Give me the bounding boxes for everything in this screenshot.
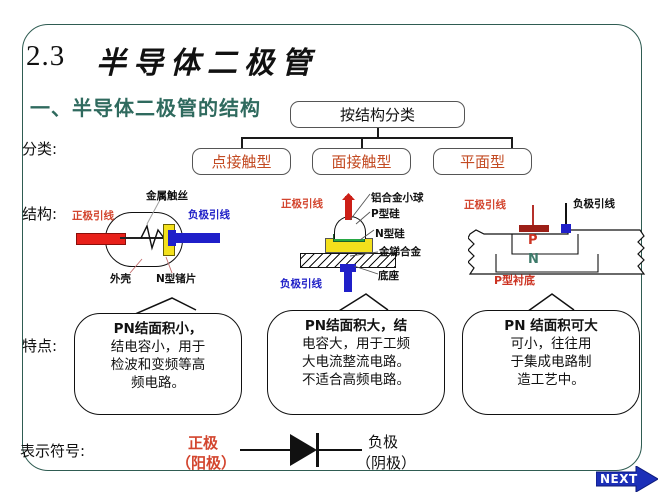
slide-canvas: 2.3 半导体二极管 一、半导体二极管的结构 分类: 结构: 特点: 表示符号:… (0, 0, 667, 500)
row-label-symbol: 表示符号: (20, 440, 85, 461)
planar-n-region-label: N (528, 252, 539, 267)
symbol-negative-label: 负极 (368, 431, 398, 452)
bubble-line: 可小，往往用 (469, 335, 633, 353)
tree-leaf-point-contact: 点接触型 (192, 148, 291, 175)
planar-anode-contact (519, 225, 549, 232)
next-button-label: NEXT (600, 472, 638, 486)
next-button[interactable]: NEXT (596, 466, 658, 492)
row-label-classification: 分类: (22, 138, 57, 159)
diode-symbol-left-lead (240, 449, 292, 451)
tree-connector-middle (361, 137, 363, 148)
d2-label-seat: 底座 (378, 268, 399, 283)
feature-bubble-point-contact: PN结面积小， 结电容小，用于 检波和变频等高 频电路。 (74, 313, 242, 415)
tree-connector-right (511, 137, 513, 148)
d3-label-cathode-lead: 负极引线 (573, 196, 615, 211)
d1-label-metal-wire: 金属触丝 (146, 188, 188, 203)
bubble-line: 造工艺中。 (469, 371, 633, 389)
d2-label-n-silicon: N型硅 (375, 226, 405, 241)
symbol-positive-alt-label: （阳极） (176, 452, 236, 473)
planar-anode-wire (532, 205, 534, 226)
tree-leaf-planar: 平面型 (433, 148, 532, 175)
symbol-negative-alt-label: （阴极） (356, 452, 416, 473)
d2-label-gold-antimony-alloy: 金锑合金 (379, 244, 421, 259)
d1-label-shell: 外壳 (110, 271, 131, 286)
d3-label-anode-lead: 正极引线 (464, 197, 506, 212)
bubble-line: PN结面积大，结 (274, 317, 438, 335)
planar-cathode-wire (565, 203, 567, 225)
diode-symbol-triangle-icon (290, 434, 317, 466)
planar-cathode-contact (561, 224, 571, 233)
d1-label-cathode-lead: 负极引线 (188, 207, 230, 222)
feature-bubble-surface-contact: PN结面积大，结 电容大，用于工频 大电流整流电路。 不适合高频电路。 (267, 310, 445, 415)
section-number: 2.3 (26, 40, 65, 73)
bubble-line: 检波和变频等高 (81, 356, 235, 374)
bubble-line: 频电路。 (81, 374, 235, 392)
diode-symbol-right-lead (318, 449, 362, 451)
symbol-positive-label: 正极 (188, 432, 218, 453)
d2-label-cathode-lead: 负极引线 (280, 276, 322, 291)
bubble-line: 于集成电路制 (469, 353, 633, 371)
page-title: 半导体二极管 (96, 38, 318, 82)
tree-leaf-surface-contact: 面接触型 (312, 148, 411, 175)
d2-label-aluminium-ball: 铝合金小球 (371, 190, 424, 205)
d2-label-anode-lead: 正极引线 (281, 196, 323, 211)
bubble-line: 大电流整流电路。 (274, 353, 438, 371)
planar-p-region-label: P (528, 233, 538, 248)
bubble-line: 电容大，用于工频 (274, 335, 438, 353)
tree-root-box: 按结构分类 (290, 101, 465, 128)
row-label-structure: 结构: (22, 203, 57, 224)
planar-substrate-label: P型衬底 (494, 272, 535, 288)
row-label-features: 特点: (22, 335, 57, 356)
tree-connector-bar (241, 137, 513, 139)
d2-label-p-silicon: P型硅 (371, 206, 400, 221)
bubble-line: PN结面积小， (81, 320, 235, 338)
tree-connector-left (241, 137, 243, 148)
bubble-line: 不适合高频电路。 (274, 371, 438, 389)
feature-bubble-planar: PN 结面积可大 可小，往往用 于集成电路制 造工艺中。 (462, 310, 640, 415)
d1-label-anode-lead: 正极引线 (72, 208, 114, 223)
bubble-line: PN 结面积可大 (469, 317, 633, 335)
subtitle: 一、半导体二极管的结构 (30, 92, 261, 121)
bubble-line: 结电容小，用于 (81, 338, 235, 356)
d1-label-germanium-chip: N型锗片 (156, 271, 196, 286)
